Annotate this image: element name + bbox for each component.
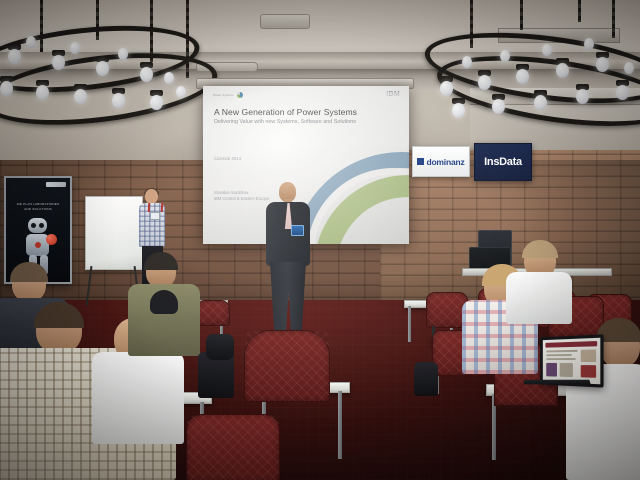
presenter-badge bbox=[291, 225, 304, 236]
slide-subtitle: Delivering Value with new Systems, Softw… bbox=[214, 119, 364, 126]
slide-brand-logo: Power Systems bbox=[213, 92, 243, 98]
dominanz-mark-icon bbox=[417, 158, 424, 165]
robot-core bbox=[35, 242, 41, 248]
ibm-logo: IBM bbox=[386, 91, 400, 98]
slide-date: Carnival 2014 bbox=[214, 156, 241, 161]
ceiling-speaker bbox=[260, 14, 310, 29]
bag bbox=[414, 362, 438, 396]
chair bbox=[244, 330, 330, 402]
robot-eye-left bbox=[31, 223, 36, 228]
dominanz-label: dominanz bbox=[426, 157, 464, 167]
banner-dominanz: dominanz bbox=[412, 146, 470, 177]
slide-logo-text: Power Systems bbox=[213, 94, 234, 97]
rollup-headline: WE PLAN LABORATORIES AND SOLUTIONS bbox=[12, 202, 64, 211]
robot-head bbox=[28, 218, 47, 233]
audience-cap bbox=[150, 290, 178, 314]
table-leg bbox=[408, 306, 411, 342]
slide-title: A New Generation of Power Systems bbox=[214, 108, 392, 118]
conference-room-photo: Power Systems IBM A New Generation of Po… bbox=[0, 0, 640, 480]
audience-torso-white-shirt bbox=[506, 272, 572, 324]
standing-attendee-head bbox=[145, 189, 158, 204]
rollup-logo bbox=[46, 182, 66, 187]
robot-eye-right bbox=[39, 223, 44, 228]
badge-card bbox=[150, 212, 160, 220]
chair bbox=[186, 414, 280, 480]
banner-insdata: InsData bbox=[474, 143, 532, 181]
robot-ball bbox=[46, 234, 57, 245]
table-leg bbox=[338, 391, 342, 459]
insdata-label: InsData bbox=[484, 156, 522, 168]
slide-presenter-info: Slovakia roadshow IBM Central & Eastern … bbox=[214, 190, 324, 201]
lanyard bbox=[148, 203, 163, 212]
chair bbox=[196, 300, 230, 326]
backpack bbox=[206, 334, 234, 360]
audience-torso-white-shirt bbox=[92, 352, 184, 444]
flipchart-pad bbox=[85, 196, 143, 270]
laptop-keyboard-base bbox=[523, 380, 590, 385]
power-systems-mark-icon bbox=[237, 92, 243, 98]
